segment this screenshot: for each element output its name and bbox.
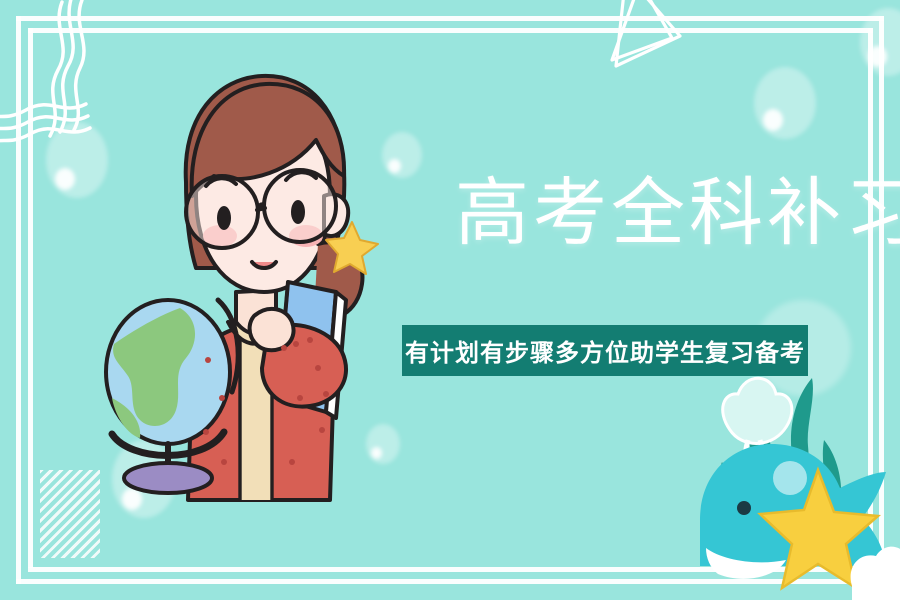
bubble-icon [754,67,816,139]
sparkle-burst-icon [773,461,807,495]
promo-banner: 高考全科补习 有计划有步骤多方位助学生复习备考 [0,0,900,600]
bubble-icon [112,440,176,518]
frame-line-inner-right [868,28,873,568]
subtitle-bar: 有计划有步骤多方位助学生复习备考 [402,325,808,376]
bubble-highlight [388,159,401,173]
frame-line-outer-left [16,16,21,584]
bubble-highlight [371,447,382,459]
frame-line-outer-bottom [16,579,884,584]
bubble-icon [46,122,108,198]
frame-line-inner-left [28,28,33,568]
bubble-highlight [122,488,142,510]
frame-line-outer-right [879,16,884,584]
coat-dots [203,337,329,465]
foam-icon [851,547,900,600]
frame-line-inner-bottom [28,567,873,572]
frame-line-inner-top [28,28,873,33]
bubble-highlight [55,168,75,190]
frame-line-outer-top [16,16,884,21]
page-title: 高考全科补习 [455,176,900,250]
bubble-icon [382,132,422,178]
diagonal-hatch-block [40,470,100,558]
outline-triangles-icon [612,0,680,66]
star-hairpin-icon [326,222,378,274]
whale-icon [700,444,886,579]
seaweed-icon [717,378,841,550]
bubble-highlight [763,109,783,131]
whale-spout-icon [723,378,792,480]
bubble-icon [366,424,400,464]
subtitle-text: 有计划有步骤多方位助学生复习备考 [405,333,805,368]
